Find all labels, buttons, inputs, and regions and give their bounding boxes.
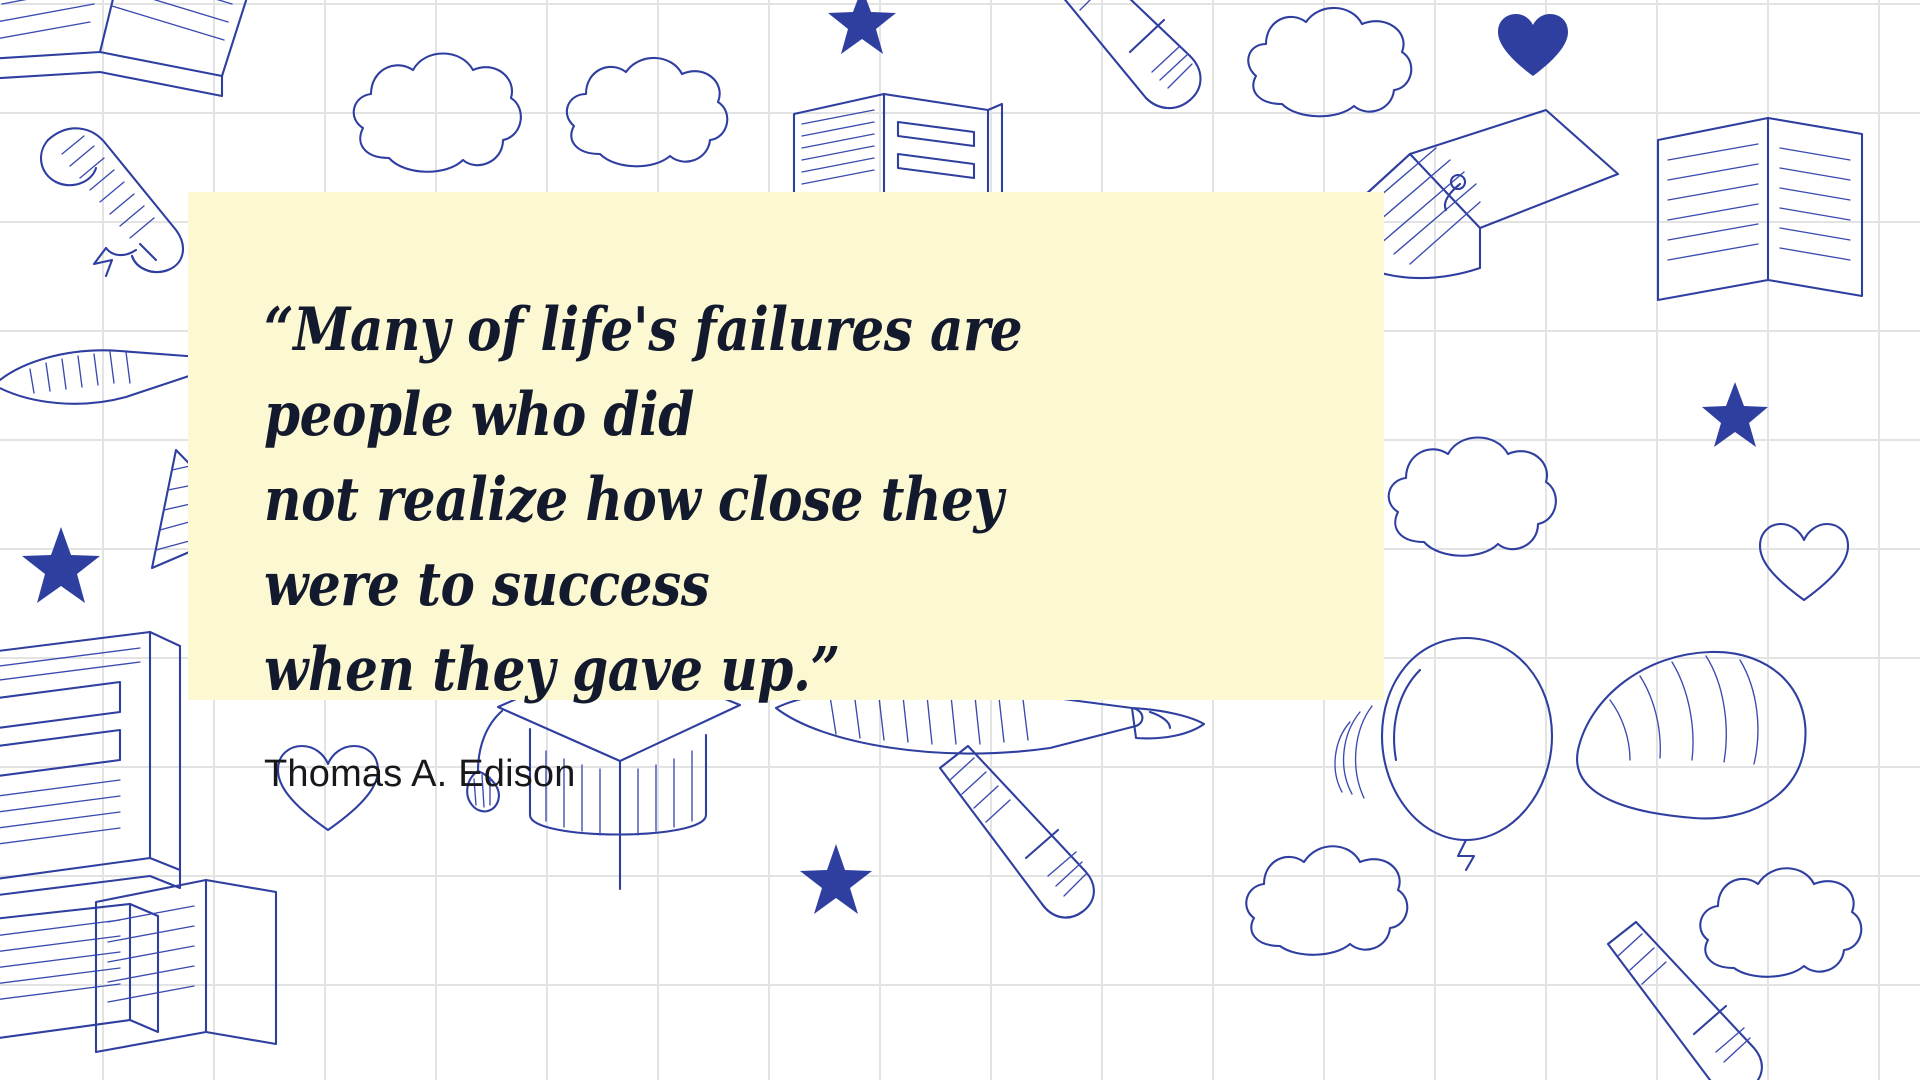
heart-doodle (1498, 14, 1568, 80)
star-doodle (798, 842, 874, 918)
thought-cloud-doodle (1236, 838, 1416, 968)
open-book-doodle (0, 620, 210, 900)
heart-doodle (1756, 520, 1852, 604)
notebook-doodle (1648, 110, 1878, 310)
ruler-doodle (1560, 640, 1820, 830)
quote-author: Thomas A. Edison (264, 713, 1292, 797)
quote-card: “Many of life's failures are people who … (188, 192, 1384, 700)
pencil-doodle (1020, 0, 1225, 125)
star-doodle (826, 0, 898, 58)
notebook-doodle (86, 862, 286, 1062)
thought-cloud-doodle (1380, 422, 1560, 567)
star-doodle (1700, 380, 1770, 450)
paintbrush-doodle (0, 335, 215, 415)
pencil-doodle (1590, 930, 1790, 1080)
quote-text: “Many of life's failures are people who … (264, 288, 1148, 713)
thought-cloud-doodle (345, 40, 530, 185)
thought-cloud-doodle (1238, 6, 1423, 126)
quote-graphic: “Many of life's failures are people who … (0, 0, 1920, 1080)
star-doodle (20, 525, 102, 607)
thought-cloud-doodle (558, 48, 738, 178)
